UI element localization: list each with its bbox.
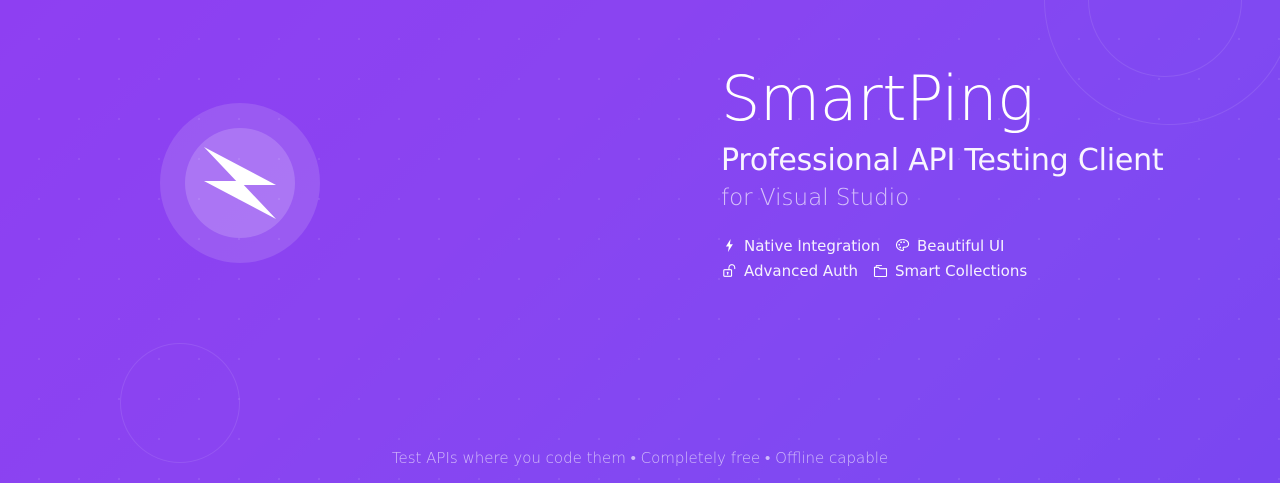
app-text-block: SmartPing Professional API Testing Clien… — [721, 63, 1241, 283]
feature-label: Smart Collections — [895, 261, 1027, 281]
palette-icon — [894, 238, 910, 254]
app-subtitle: Professional API Testing Client — [721, 143, 1241, 179]
feature-label: Advanced Auth — [744, 261, 858, 281]
feature-row: Native Integration Beaut — [721, 233, 1241, 258]
lightning-bolt-icon — [721, 238, 737, 254]
smartping-bolt-logo-icon — [198, 141, 282, 225]
lock-icon — [721, 263, 737, 279]
splash-content: SmartPing Professional API Testing Clien… — [0, 0, 1280, 483]
feature-label: Native Integration — [744, 236, 880, 256]
splash-screen: SmartPing Professional API Testing Clien… — [0, 0, 1280, 483]
feature-advanced-auth: Advanced Auth — [721, 261, 858, 281]
folder-icon — [872, 263, 888, 279]
feature-list: Native Integration Beaut — [721, 233, 1241, 283]
feature-row: Advanced Auth Smart Collections — [721, 258, 1241, 283]
feature-beautiful-ui: Beautiful UI — [894, 236, 1004, 256]
app-logo — [160, 103, 320, 263]
app-tagline: for Visual Studio — [721, 183, 1241, 213]
feature-label: Beautiful UI — [917, 236, 1004, 256]
feature-smart-collections: Smart Collections — [872, 261, 1027, 281]
feature-native-integration: Native Integration — [721, 236, 880, 256]
app-title: SmartPing — [721, 63, 1241, 135]
footer-tagline: Test APIs where you code them • Complete… — [0, 447, 1280, 469]
